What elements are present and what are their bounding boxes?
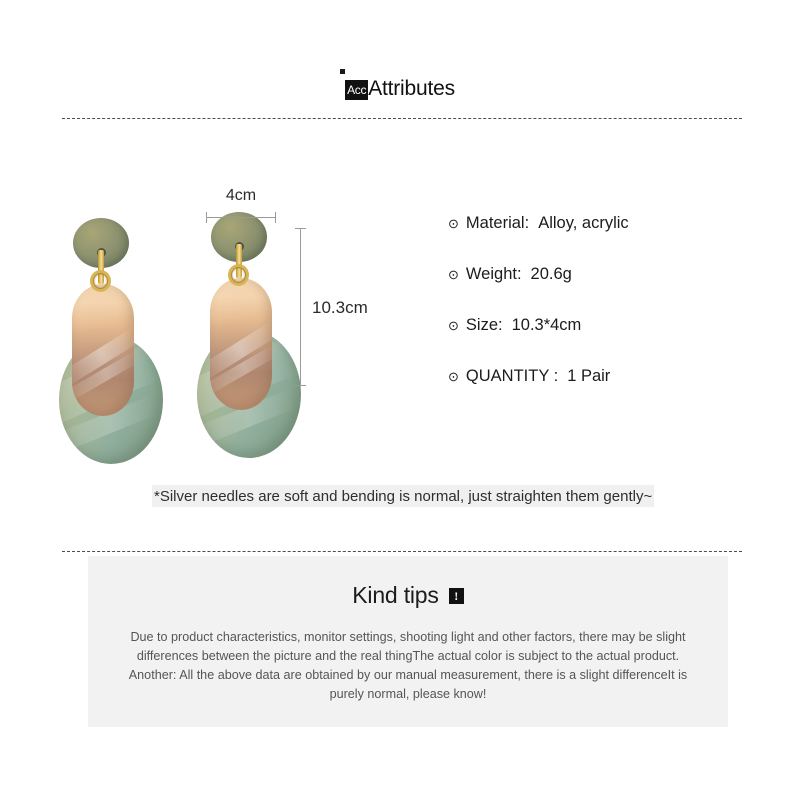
attribute-key: Material: [466, 214, 529, 233]
attribute-value: 1 Pair [567, 367, 610, 386]
dimension-cap-left [206, 212, 207, 223]
page-header: Acc Attributes [0, 78, 800, 100]
attribute-key: Weight: [466, 265, 522, 284]
dimension-rule [206, 217, 276, 218]
attribute-value: 20.6g [531, 265, 572, 284]
divider-bottom [62, 551, 742, 552]
kind-tips-heading: Kind tips ! [88, 582, 728, 609]
kind-tips-body: Due to product characteristics, monitor … [116, 628, 700, 704]
circled-dot-icon: ⊙ [448, 319, 459, 332]
divider-top [62, 118, 742, 119]
dimension-cap-bottom [295, 385, 306, 386]
dimension-cap-right [275, 212, 276, 223]
attribute-key: Size: [466, 316, 503, 335]
circled-dot-icon: ⊙ [448, 217, 459, 230]
acc-badge: Acc [345, 80, 368, 100]
exclamation-icon: ! [449, 588, 464, 604]
attribute-row-quantity: ⊙ QUANTITY : 1 Pair [448, 367, 768, 386]
attribute-row-weight: ⊙ Weight: 20.6g [448, 265, 768, 284]
gradient-capsule [210, 278, 272, 410]
attributes-list: ⊙ Material: Alloy, acrylic ⊙ Weight: 20.… [448, 214, 768, 418]
gold-jump-ring [228, 264, 249, 286]
needle-note: *Silver needles are soft and bending is … [152, 485, 654, 507]
attribute-value: Alloy, acrylic [538, 214, 628, 233]
circled-dot-icon: ⊙ [448, 268, 459, 281]
width-dimension-label: 4cm [206, 187, 276, 205]
width-dimension-line [206, 212, 276, 222]
product-attributes-page: Acc Attributes 4cm [0, 0, 800, 800]
gradient-capsule [72, 284, 134, 416]
height-dimension-label: 10.3cm [312, 298, 368, 318]
earring-left [45, 218, 165, 468]
attribute-value: 10.3*4cm [512, 316, 582, 335]
attribute-key: QUANTITY : [466, 367, 558, 386]
kind-tips-title: Kind tips [352, 582, 438, 609]
attribute-row-material: ⊙ Material: Alloy, acrylic [448, 214, 768, 233]
header-badge-wrap: Acc [345, 80, 368, 100]
earring-right [183, 212, 303, 462]
kind-tips-panel: Kind tips ! Due to product characteristi… [88, 556, 728, 727]
attribute-row-size: ⊙ Size: 10.3*4cm [448, 316, 768, 335]
dimension-rule [300, 228, 301, 386]
dimension-cap-top [295, 228, 306, 229]
square-dot-icon [340, 69, 345, 74]
circled-dot-icon: ⊙ [448, 370, 459, 383]
gold-jump-ring [90, 270, 111, 292]
height-dimension-line [295, 228, 306, 386]
page-title: Attributes [368, 78, 455, 100]
